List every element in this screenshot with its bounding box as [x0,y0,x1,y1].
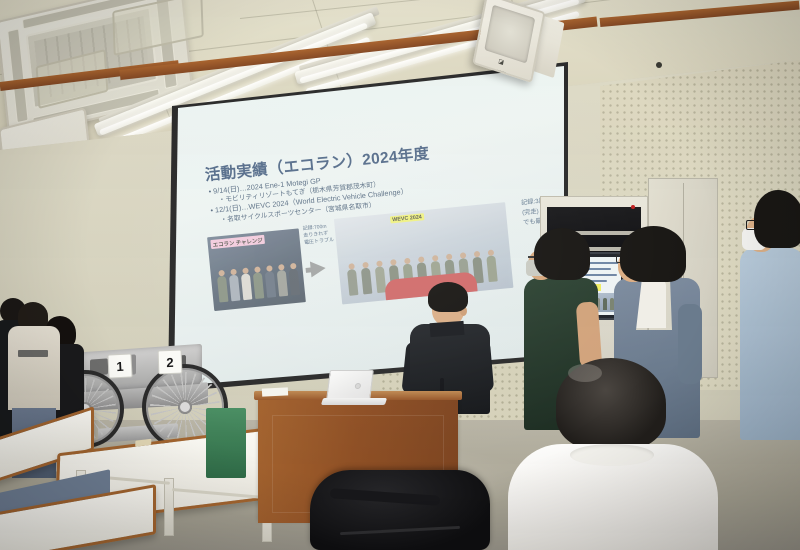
slide-photo-left: エコラン チャレンジ [207,228,306,311]
presenter-hair [428,282,468,312]
backpack-strap [330,488,440,506]
presenter-collar [430,321,465,337]
speaker-brand-logo: ◪ [498,58,505,67]
ceiling-sensor-icon [656,62,662,68]
photo-people-group [210,260,305,303]
presentation-room-photo: 活動実績（エコラン）2024年度 9/14(日)…2024 Ene-1 Mote… [0,0,800,550]
presentation-slide: 活動実績（エコラン）2024年度 9/14(日)…2024 Ene-1 Mote… [174,64,564,386]
black-backpack [310,470,490,550]
student-hair [620,226,686,282]
slide-middle-note: 記録:700m 走りきれず 電圧トラブル [302,223,334,247]
paper-sheet [262,387,288,396]
seated-audience-person [508,358,718,550]
masked-observer-person [740,190,800,440]
presenter-laptop[interactable] [322,370,386,404]
slide-photo-right-tag: WEVC 2024 [390,213,424,223]
power-led-icon [631,205,635,209]
slide-arrow-icon [310,260,326,277]
tshirt-print [18,350,48,357]
laptop-keyboard-base[interactable] [321,398,387,405]
speaker-cone [484,5,535,64]
observer-torso [740,248,800,440]
slide-photo-left-tag: エコラン チャレンジ [210,235,265,249]
laptop-logo-icon [355,383,362,389]
vehicle-number-plate: 2 [158,350,183,375]
projection-screen: 活動実績（エコラン）2024年度 9/14(日)…2024 Ene-1 Mote… [172,64,564,386]
seated-person-collar [570,444,654,466]
seated-person-hair [556,358,666,450]
desk-leg [164,478,174,536]
student-hair [534,228,590,280]
laptop-lid [326,370,374,400]
green-panel [206,408,246,478]
wheel-hub [178,400,192,414]
backpack-zipper [340,526,460,535]
person-torso [8,326,60,410]
observer-hair [754,190,800,248]
